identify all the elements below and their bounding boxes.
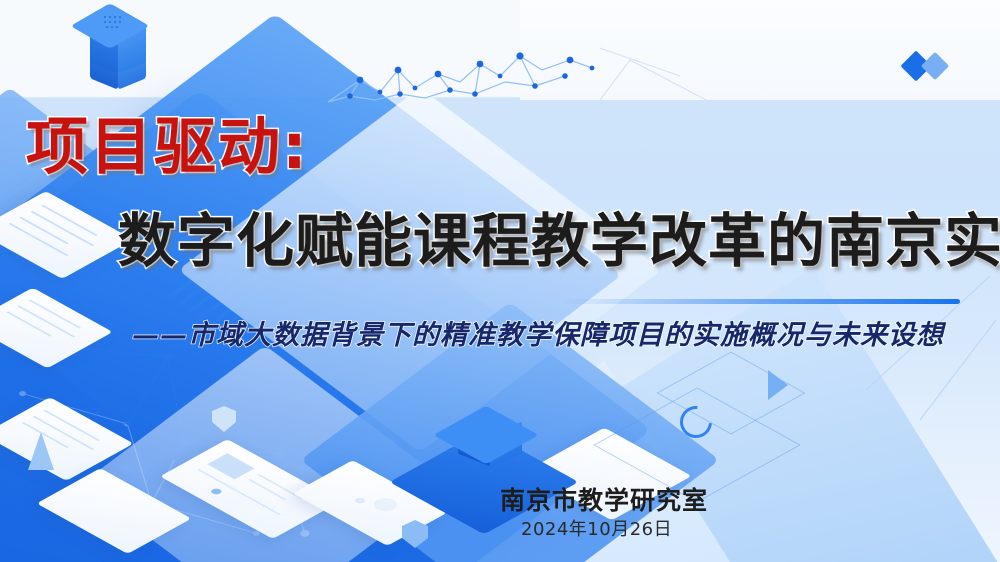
title-slide: 项目驱动: 数字化赋能课程教学改革的南京实践 ——市域大数据背景下的精准教学保障… <box>0 0 1000 562</box>
title-text-block: 项目驱动: 数字化赋能课程教学改革的南京实践 ——市域大数据背景下的精准教学保障… <box>0 0 1000 562</box>
presentation-date: 2024年10月26日 <box>521 515 672 541</box>
page-title-line2: 数字化赋能课程教学改革的南京实践 <box>118 212 1000 270</box>
organization-name: 南京市教学研究室 <box>500 481 708 517</box>
page-subtitle: ——市域大数据背景下的精准教学保障项目的实施概况与未来设想 <box>132 322 944 349</box>
page-title-line1: 项目驱动: <box>26 116 309 178</box>
title-underline-rule <box>560 299 960 304</box>
